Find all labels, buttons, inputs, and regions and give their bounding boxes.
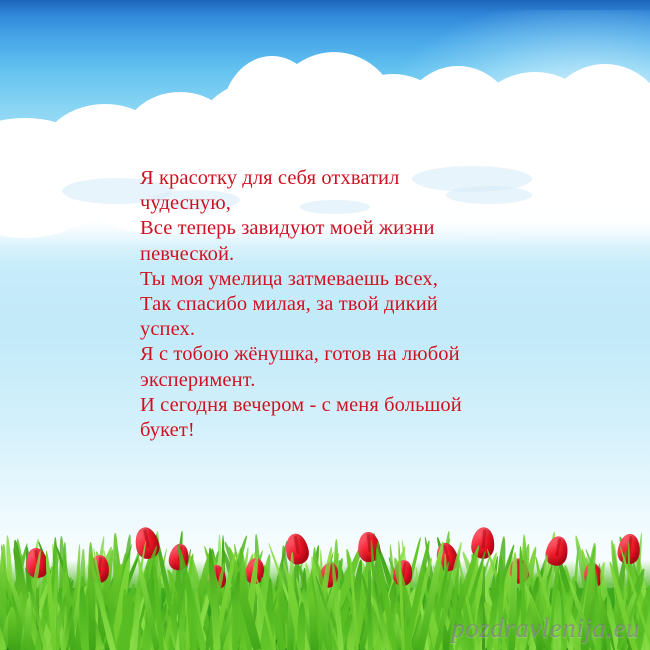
grass-blade: [297, 602, 306, 650]
poem-line: И сегодня вечером - с меня большой: [140, 393, 560, 418]
site-watermark: pozdravlenija.eu: [451, 613, 640, 644]
greeting-card: Я красотку для себя отхватилчудесную,Все…: [0, 0, 650, 650]
poem-line: эксперимент.: [140, 368, 560, 393]
poem-line: певческой.: [140, 242, 560, 267]
poem-line: Ты моя умелица затмеваешь всех,: [140, 267, 560, 292]
poem-line: Так спасибо милая, за твой дикий: [140, 292, 560, 317]
poem-line: чудесную,: [140, 191, 560, 216]
poem-line: Я красотку для себя отхватил: [140, 166, 560, 191]
poem-line: Я с тобою жёнушка, готов на любой: [140, 342, 560, 367]
poem-text: Я красотку для себя отхватилчудесную,Все…: [140, 166, 560, 443]
poem-line: успех.: [140, 317, 560, 342]
poem-line: букет!: [140, 418, 560, 443]
grass-blade: [232, 604, 238, 650]
poem-line: Все теперь завидуют моей жизни: [140, 216, 560, 241]
cloud-puff: [222, 56, 322, 176]
